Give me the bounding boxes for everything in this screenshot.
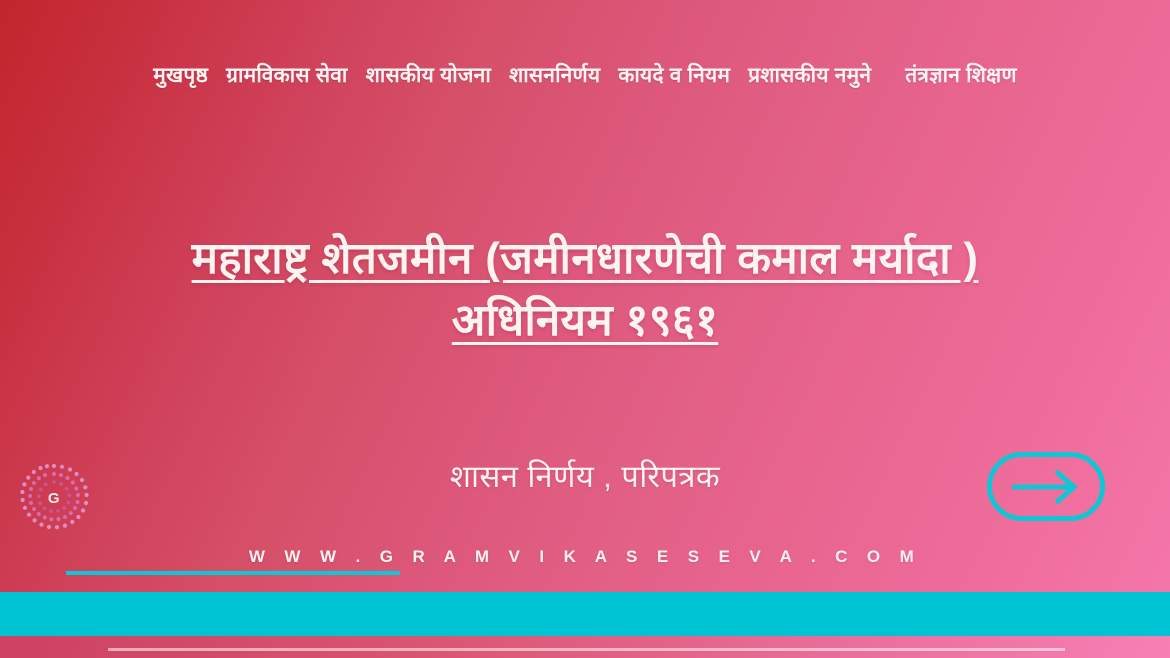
- nav-item-shasannirnay[interactable]: शासननिर्णय: [500, 63, 609, 88]
- nav-item-mukhaprushtha[interactable]: मुखपृष्ठ: [144, 63, 217, 88]
- cyan-footer-bar: [0, 592, 1170, 636]
- nav-item-list: मुखपृष्ठ ग्रामविकास सेवा शासकीय योजना शा…: [144, 63, 1025, 88]
- headline-line-1: महाराष्ट्र शेतजमीन (जमीनधारणेची कमाल मर्…: [0, 228, 1170, 290]
- nav-item-shaskiya-yojana[interactable]: शासकीय योजना: [357, 63, 500, 88]
- arrow-right-icon: [1008, 469, 1084, 505]
- next-arrow-button[interactable]: [987, 452, 1105, 521]
- nav-item-kayde-va-niyam[interactable]: कायदे व नियम: [609, 63, 739, 88]
- bottom-gradient-strip: [0, 636, 1170, 658]
- website-url[interactable]: W W W . G R A M V I K A S E S E V A . C …: [0, 547, 1170, 567]
- brand-logo: G: [16, 460, 92, 536]
- nav-item-prashaskiya-namune[interactable]: प्रशासकीय नमुने: [739, 63, 880, 88]
- nav-item-tantradnyan-shikshan[interactable]: तंत्रज्ञान शिक्षण: [896, 63, 1026, 88]
- bottom-hairline-divider: [108, 648, 1065, 651]
- url-accent-underline: [66, 571, 400, 575]
- main-navigation: मुखपृष्ठ ग्रामविकास सेवा शासकीय योजना शा…: [0, 0, 1170, 160]
- hero-headline: महाराष्ट्र शेतजमीन (जमीनधारणेची कमाल मर्…: [0, 228, 1170, 352]
- nav-item-gramvikas-seva[interactable]: ग्रामविकास सेवा: [217, 63, 356, 88]
- promo-banner: मुखपृष्ठ ग्रामविकास सेवा शासकीय योजना शा…: [0, 0, 1170, 658]
- headline-line-2: अधिनियम १९६१: [0, 290, 1170, 352]
- logo-letter: G: [16, 460, 92, 536]
